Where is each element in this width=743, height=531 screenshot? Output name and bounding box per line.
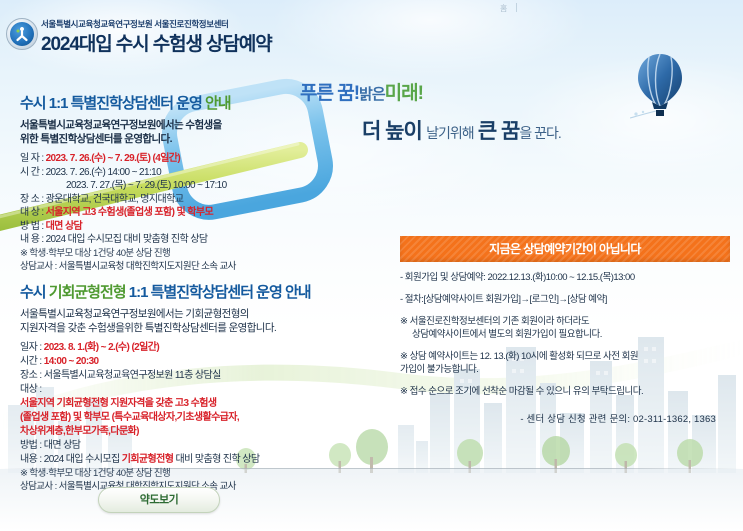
section2-row-place: 장소 : 서울특별시교육청교육연구정보원 11층 상담실 [20, 369, 350, 383]
section2-target-line3: 차상위계층,한부모가족,다문화) [20, 425, 350, 439]
section2-row-time: 시간 : 14:00 ~ 20:30 [20, 355, 350, 369]
section1-row-time: 시 간:2023. 7. 26.(수) 14:00 ~ 21:10 [20, 166, 350, 180]
slogan-text-2c: 큰 꿈 [478, 120, 519, 143]
section1-value-time: 2023. 7. 26.(수) 14:00 ~ 21:10 [46, 167, 162, 178]
section2-content-emphasis: 기회균형전형 [122, 454, 174, 465]
section1-row-date: 일 자:2023. 7. 26.(수) ~ 7. 29.(토) (4일간) [20, 152, 350, 166]
page-header: 홈 서울특별시교육청교육연구정보원 서울진로진학정보센터 2024대입 수시 수… [0, 0, 743, 56]
section2-description: 서울특별시교육청교육연구정보원에서는 기회균형전형의 지원자격을 갖춘 수험생을… [20, 307, 350, 335]
section1-value-time2: 2023. 7. 27.(목) ~ 7. 29.(토) 10:00 ~ 17:1… [66, 180, 227, 191]
notice-existing-member: ※ 서울진로진학정보센터의 기존 회원이라 하더라도 상담예약사이트에서 별도의… [400, 315, 730, 341]
section2-note: ※ 학생·학부모 대상 1건당 40분 상담 진행 [20, 467, 350, 480]
section2-label-target: 대상 : [20, 384, 42, 395]
brand-title: 2024대입 수시 수험생 상담예약 [41, 29, 272, 56]
hero-slogan: 푸른 꿈!밝은미래! 더 높이 날기위해 큰 꿈을 꾼다. [300, 78, 730, 145]
section2-value-time: 14:00 ~ 20:30 [44, 356, 99, 367]
section1-label-date: 일 자 [20, 152, 39, 166]
section1-row-place: 장 소:광운대학교, 건국대학교, 명지대학교 [20, 193, 350, 207]
section2-value-date: 2023. 8. 1.(화) ~ 2.(수) (2일간) [44, 342, 159, 353]
section2-content-pre: 2024 대입 수시모집 [44, 454, 122, 465]
slogan-line-1: 푸른 꿈!밝은미래! [300, 78, 730, 105]
section2-row-method: 방법 : 대면 상담 [20, 439, 350, 453]
section2-content-post: 대비 맞춤형 진학 상담 [173, 454, 259, 465]
notice-site-activation-line1: ※ 상담 예약사이트는 12. 13.(화) 10시에 활성화 되므로 사전 회… [400, 351, 638, 362]
section-regular-consult: 수시 1:1 특별진학상담센터 운영 안내 서울특별시교육청교육연구정보원에서는… [20, 92, 350, 273]
section1-value-content: 2024 대입 수시모집 대비 맞춤형 진학 상담 [46, 234, 208, 245]
section2-value-place: 서울특별시교육청교육연구정보원 11층 상담실 [44, 370, 221, 381]
section2-row-content: 내용 : 2024 대입 수시모집 기회균형전형 대비 맞춤형 진학 상담 [20, 453, 350, 467]
notice-procedure: - 절차:[상담예약사이트 회원가입]→[로그인]→[상담 예약] [400, 293, 730, 306]
section2-row-date: 일자 : 2023. 8. 1.(화) ~ 2.(수) (2일간) [20, 341, 350, 355]
section2-label-time: 시간 : [20, 356, 44, 367]
page-root: 홈 서울특별시교육청교육연구정보원 서울진로진학정보센터 2024대입 수시 수… [0, 0, 743, 531]
section2-value-method: 대면 상담 [44, 440, 81, 451]
notice-signup-period: - 회원가입 및 상담예약: 2022.12.13.(화)10:00 ~ 12.… [400, 271, 730, 284]
notice-existing-member-line1: ※ 서울진로진학정보센터의 기존 회원이라 하더라도 [400, 316, 589, 327]
section1-value-method: 대면 상담 [46, 221, 83, 232]
section2-title-main: 수시 [20, 284, 46, 301]
slogan-text-2b: 날기위해 [426, 125, 474, 141]
seoul-education-emblem-icon [6, 18, 38, 50]
notice-first-come: ※ 접수 순으로 조기에 선착순 마감될 수 있으니 유의 부탁드립니다. [400, 385, 730, 398]
section-equal-opportunity-consult: 수시 기회균형전형 1:1 특별진학상담센터 운영 안내 서울특별시교육청교육연… [20, 281, 350, 493]
slogan-text-1b: 밝은 [359, 86, 385, 103]
section1-row-time2: 2023. 7. 27.(목) ~ 7. 29.(토) 10:00 ~ 17:1… [20, 179, 350, 193]
left-content-panel: 수시 1:1 특별진학상담센터 운영 안내 서울특별시교육청교육연구정보원에서는… [20, 92, 350, 493]
section2-label-place: 장소 : [20, 370, 44, 381]
home-link[interactable]: 홈 [500, 3, 508, 14]
section1-value-place: 광운대학교, 건국대학교, 명지대학교 [46, 194, 184, 205]
slogan-text-2a: 더 높이 [362, 120, 422, 143]
header-divider [516, 3, 517, 12]
section2-title: 수시 기회균형전형 1:1 특별진학상담센터 운영 안내 [20, 281, 350, 302]
notice-site-activation: ※ 상담 예약사이트는 12. 13.(화) 10시에 활성화 되므로 사전 회… [400, 350, 730, 376]
section1-row-method: 방 법:대면 상담 [20, 220, 350, 234]
section1-teacher: 상담교사 : 서울특별시교육청 대학진학지도지원단 소속 교사 [20, 260, 350, 273]
section1-description: 서울특별시교육청교육연구정보원에서는 수험생을 위한 특별진학상담센터를 운영합… [20, 118, 350, 146]
notice-existing-member-line2: 상담예약사이트에서 별도의 회원가입이 필요합니다. [400, 329, 602, 340]
reservation-closed-banner: 지금은 상담예약기간이 아닙니다 [400, 236, 730, 262]
section1-title-accent: 안내 [205, 95, 231, 112]
section1-label-method: 방 법 [20, 220, 39, 234]
section2-row-target-label: 대상 : [20, 383, 350, 397]
section1-row-content: 내 용:2024 대입 수시모집 대비 맞춤형 진학 상담 [20, 233, 350, 247]
slogan-text-1c: 미래! [385, 83, 423, 104]
section1-title-main: 수시 1:1 특별진학상담센터 운영 [20, 95, 202, 112]
notice-site-activation-line2: 가입이 불가능합니다. [400, 364, 478, 375]
section2-desc-line1: 서울특별시교육청교육연구정보원에서는 기회균형전형의 [20, 308, 249, 320]
slogan-text-2d: 을 꾼다. [519, 125, 560, 141]
slogan-line-2: 더 높이 날기위해 큰 꿈을 꾼다. [362, 115, 730, 145]
section2-label-content: 내용 : [20, 454, 44, 465]
section1-label-place: 장 소 [20, 193, 39, 207]
section1-note: ※ 학생·학부모 대상 1건당 40분 상담 진행 [20, 247, 350, 260]
section1-desc-line2: 위한 특별진학상담센터를 운영합니다. [20, 133, 172, 145]
section2-desc-line2: 지원자격을 갖춘 수험생을위한 특별진학상담센터를 운영합니다. [20, 322, 276, 334]
section1-label-content: 내 용 [20, 233, 39, 247]
section1-value-date: 2023. 7. 26.(수) ~ 7. 29.(토) (4일간) [46, 153, 181, 164]
reservation-notice-panel: 지금은 상담예약기간이 아닙니다 - 회원가입 및 상담예약: 2022.12.… [400, 236, 730, 425]
section2-title-accent: 기회균형전형 [49, 284, 126, 301]
section2-label-date: 일자 : [20, 342, 44, 353]
section1-value-target: 서울지역 고3 수험생(졸업생 포함) 및 학부모 [46, 207, 214, 218]
section1-title: 수시 1:1 특별진학상담센터 운영 안내 [20, 92, 350, 113]
section2-label-method: 방법 : [20, 440, 44, 451]
section2-target-line1: 서울지역 기회균형전형 지원자격을 갖춘 고3 수험생 [20, 397, 350, 411]
section2-target-line2: (졸업생 포함) 및 학부모 (특수교육대상자,기초생활수급자, [20, 411, 350, 425]
contact-info: - 센터 상담 신청 관련 문의: 02-311-1362, 1363 [400, 411, 730, 425]
section1-label-target: 대 상 [20, 206, 39, 220]
section1-desc-line1: 서울특별시교육청교육연구정보원에서는 수험생을 [20, 119, 222, 131]
section1-row-target: 대 상:서울지역 고3 수험생(졸업생 포함) 및 학부모 [20, 206, 350, 220]
view-map-button[interactable]: 약도보기 [98, 487, 220, 513]
section2-title-rest: 1:1 특별진학상담센터 운영 안내 [129, 284, 311, 301]
section1-label-time: 시 간 [20, 166, 39, 180]
